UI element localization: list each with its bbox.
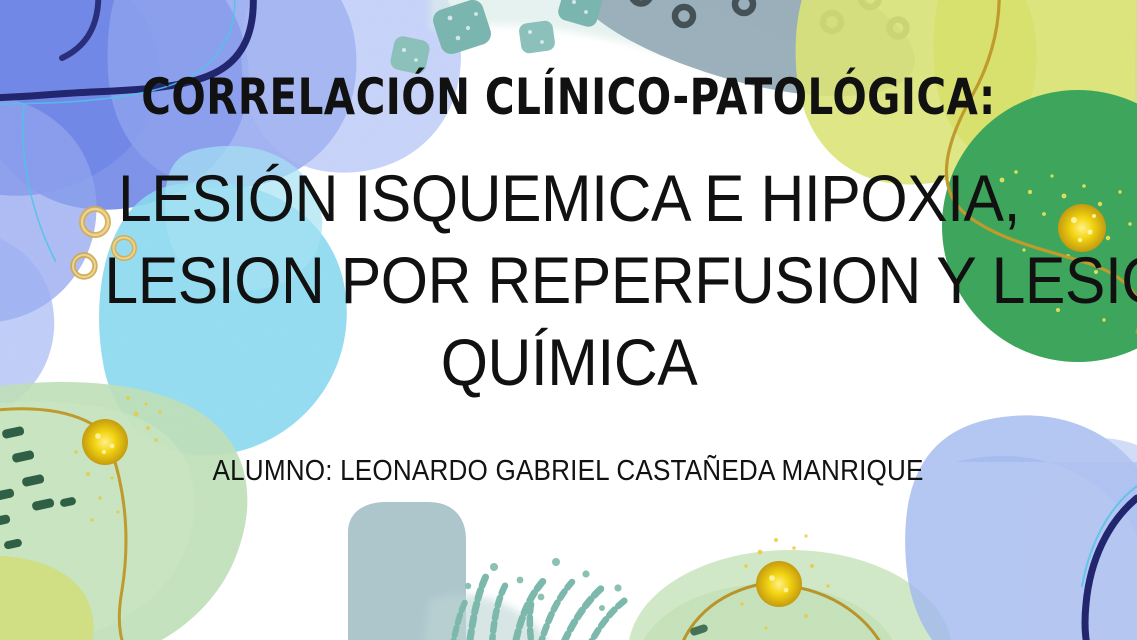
title-line-1: LESIÓN ISQUEMICA E HIPOXIA, xyxy=(104,158,1033,240)
slide-author: ALUMNO: LEONARDO GABRIEL CASTAÑEDA MANRI… xyxy=(213,455,924,488)
presentation-slide: CORRELACIÓN CLÍNICO-PATOLÓGICA: LESIÓN I… xyxy=(0,0,1137,640)
slide-heading: CORRELACIÓN CLÍNICO-PATOLÓGICA: xyxy=(141,72,995,122)
title-line-3: QUÍMICA xyxy=(104,322,1033,404)
title-line-2: LESION POR REPERFUSION Y LESIÓN xyxy=(104,240,1033,322)
blue-gray-shape-bottom-center xyxy=(348,502,548,640)
slide-main-title: LESIÓN ISQUEMICA E HIPOXIA, LESION POR R… xyxy=(104,158,1033,403)
